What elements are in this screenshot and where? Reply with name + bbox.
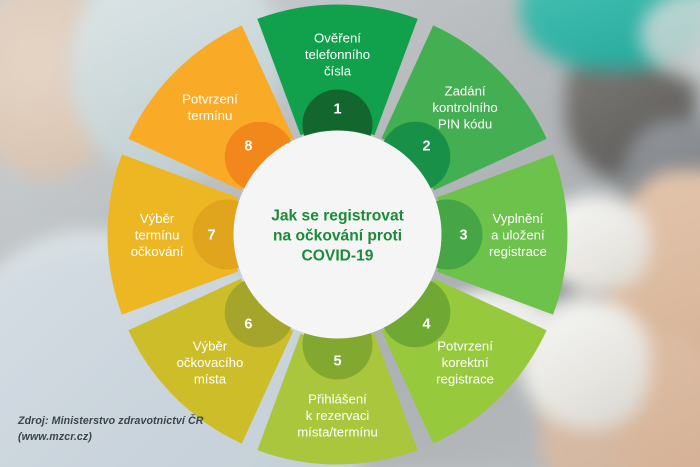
segment-label-3: Vyplněnía uloženíregistrace [489,211,547,259]
badge-number-4: 4 [423,317,431,333]
infographic-canvas: OvěřenítelefonníhočíslaZadáníkontrolního… [0,0,700,467]
badge-number-6: 6 [244,317,252,333]
source-note: Zdroj: Ministerstvo zdravotnictví ČR (ww… [18,414,268,445]
segment-label-4: Potvrzeníkorektníregistrace [436,339,494,387]
badge-number-7: 7 [207,228,215,244]
badge-number-8: 8 [244,138,252,154]
badge-number-2: 2 [423,138,431,154]
segment-label-8: Potvrzenítermínu [182,92,238,124]
segment-label-5: Přihlášeník rezervacimísta/termínu [297,391,378,439]
source-line-2: (www.mzcr.cz) [18,430,268,445]
badge-number-1: 1 [333,102,341,118]
badge-number-5: 5 [333,354,341,370]
badge-number-3: 3 [459,228,467,244]
registration-steps-wheel: OvěřenítelefonníhočíslaZadáníkontrolního… [105,2,570,467]
source-line-1: Zdroj: Ministerstvo zdravotnictví ČR [18,414,268,429]
wheel-svg: OvěřenítelefonníhočíslaZadáníkontrolního… [105,2,570,467]
